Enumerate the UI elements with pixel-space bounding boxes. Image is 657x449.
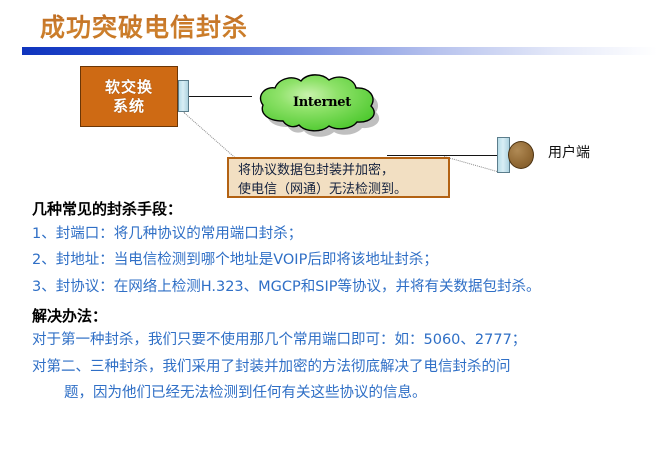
link-internet-to-client bbox=[387, 155, 498, 156]
page-title: 成功突破电信封杀 bbox=[40, 8, 248, 44]
list-item-3: 3、封协议：在网络上检测H.323、MGCP和SIP等协议，并将有关数据包封杀。 bbox=[32, 274, 657, 301]
softswitch-label-line2: 系统 bbox=[113, 97, 145, 116]
internet-cloud-label: Internet bbox=[252, 95, 392, 110]
client-node[interactable] bbox=[508, 141, 534, 169]
encryption-callout: 将协议数据包封装并加密， 使电信（网通）无法检测到。 bbox=[227, 157, 450, 198]
body-text-area: 几种常见的封杀手段： 1、封端口：将几种协议的常用端口封杀； 2、封地址：当电信… bbox=[0, 198, 657, 406]
callout-line-1: 将协议数据包封装并加密， bbox=[238, 162, 439, 181]
list-item-2: 2、封地址：当电信检测到哪个地址是VOIP后即将该地址封杀； bbox=[32, 247, 657, 274]
solution-line-1: 对于第一种封杀，我们只要不使用那几个常用端口即可：如：5060、2777； bbox=[32, 327, 657, 353]
solution-line-2: 对第二、三种封杀，我们采用了封装并加密的方法彻底解决了电信封杀的问 bbox=[32, 354, 657, 380]
softswitch-interface-plate bbox=[178, 80, 189, 112]
callout-leader-right bbox=[444, 156, 497, 172]
title-divider bbox=[22, 47, 657, 55]
heading-blocking-methods: 几种常见的封杀手段： bbox=[32, 198, 657, 221]
internet-cloud[interactable]: Internet bbox=[252, 69, 392, 141]
callout-line-2: 使电信（网通）无法检测到。 bbox=[238, 181, 439, 200]
slide-canvas: 成功突破电信封杀 软交换 系统 bbox=[0, 0, 657, 449]
list-item-1: 1、封端口：将几种协议的常用端口封杀； bbox=[32, 221, 657, 248]
softswitch-label-line1: 软交换 bbox=[105, 78, 153, 97]
link-softswitch-to-internet bbox=[189, 96, 252, 97]
heading-solution: 解决办法： bbox=[32, 305, 657, 328]
softswitch-node[interactable]: 软交换 系统 bbox=[80, 66, 178, 127]
network-diagram: 软交换 系统 Internet bbox=[0, 56, 657, 201]
solution-line-3: 题，因为他们已经无法检测到任何有关这些协议的信息。 bbox=[64, 380, 657, 406]
callout-leader-left bbox=[183, 112, 235, 158]
client-label: 用户端 bbox=[548, 142, 590, 162]
